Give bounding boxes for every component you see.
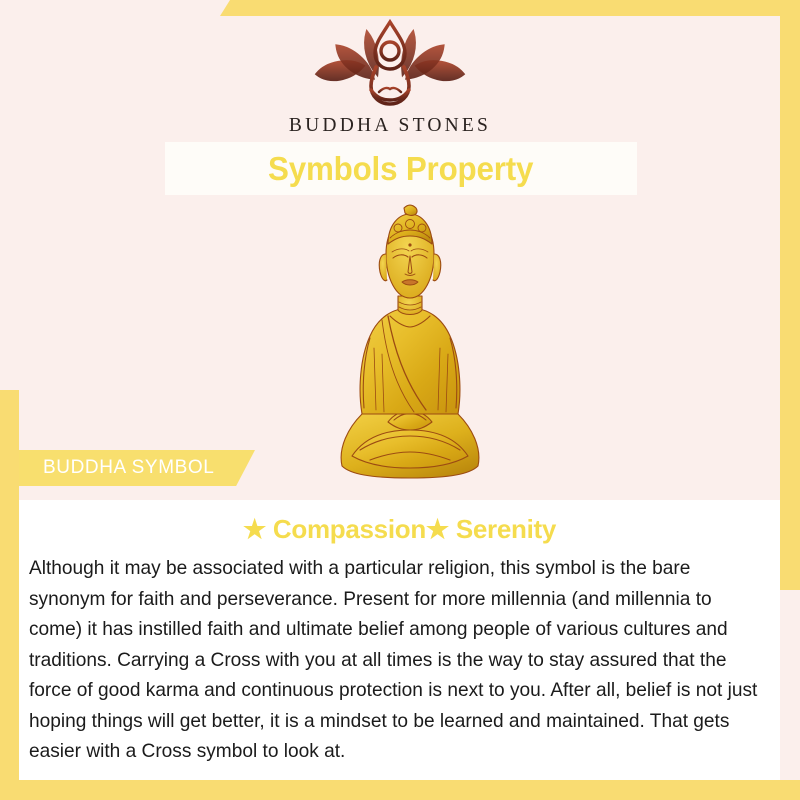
frame-accent-top — [220, 0, 800, 16]
lotus-meditation-figure-icon — [297, 18, 483, 110]
content-body: Although it may be associated with a par… — [29, 553, 763, 767]
seated-golden-buddha-icon — [330, 198, 490, 488]
frame-accent-left — [0, 390, 19, 780]
poster-root: BUDDHA STONES Symbols Property — [0, 0, 800, 800]
ribbon-label: BUDDHA SYMBOL — [19, 457, 214, 479]
hero-image — [330, 198, 490, 488]
frame-accent-bottom — [0, 780, 800, 800]
page-title: Symbols Property — [268, 150, 533, 188]
content-headline: ★ Compassion★ Serenity — [19, 514, 780, 545]
title-banner: Symbols Property — [165, 142, 637, 195]
brand-header: BUDDHA STONES — [0, 18, 780, 137]
section-ribbon: BUDDHA SYMBOL — [19, 450, 255, 486]
content-panel: ★ Compassion★ Serenity Although it may b… — [19, 500, 780, 780]
brand-name: BUDDHA STONES — [0, 115, 780, 137]
frame-accent-right — [780, 0, 800, 590]
